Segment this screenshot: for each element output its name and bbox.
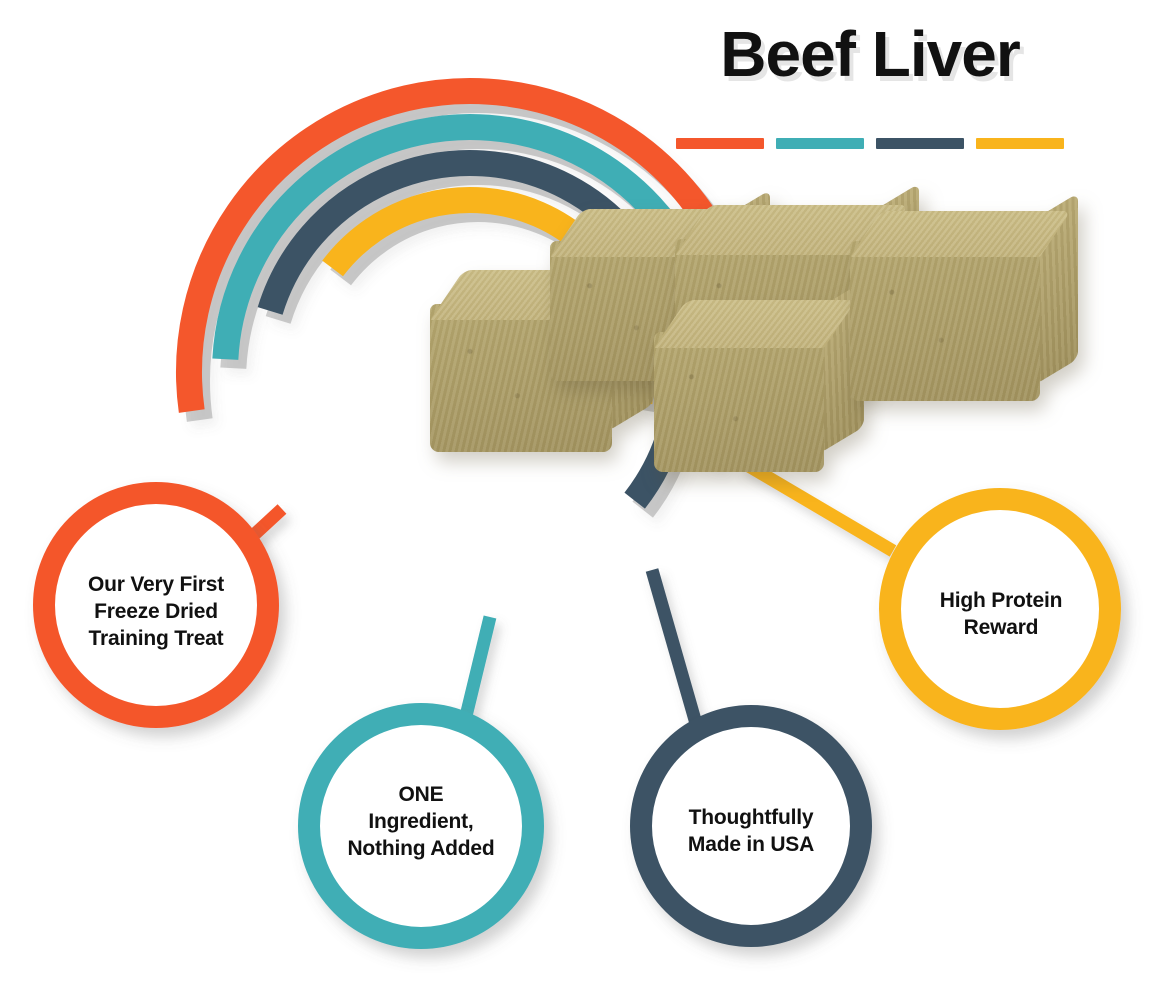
arc-yellow	[333, 200, 642, 402]
feature-label-0: Our Very First Freeze Dried Training Tre…	[45, 572, 267, 653]
connector-teal	[466, 617, 490, 716]
connector-lines	[243, 462, 893, 727]
connector-slate	[652, 570, 697, 727]
accent-bar-group	[676, 138, 1064, 149]
infographic-canvas: Beef Liver Our Very First Freeze Dried T…	[0, 0, 1149, 982]
accent-bar-orange	[676, 138, 764, 149]
feature-circles	[44, 493, 1110, 938]
title-block: Beef Liver	[660, 22, 1080, 86]
page-title: Beef Liver	[660, 22, 1080, 86]
connector-yellow	[742, 462, 893, 551]
accent-bar-teal	[776, 138, 864, 149]
accent-bar-slate	[876, 138, 964, 149]
feature-label-3: High Protein Reward	[890, 588, 1112, 642]
arc-yellow-shadow	[341, 209, 650, 411]
concentric-arcs	[189, 91, 745, 510]
accent-bar-yellow	[976, 138, 1064, 149]
feature-label-2: Thoughtfully Made in USA	[640, 805, 862, 859]
feature-label-1: ONE Ingredient, Nothing Added	[310, 782, 532, 863]
